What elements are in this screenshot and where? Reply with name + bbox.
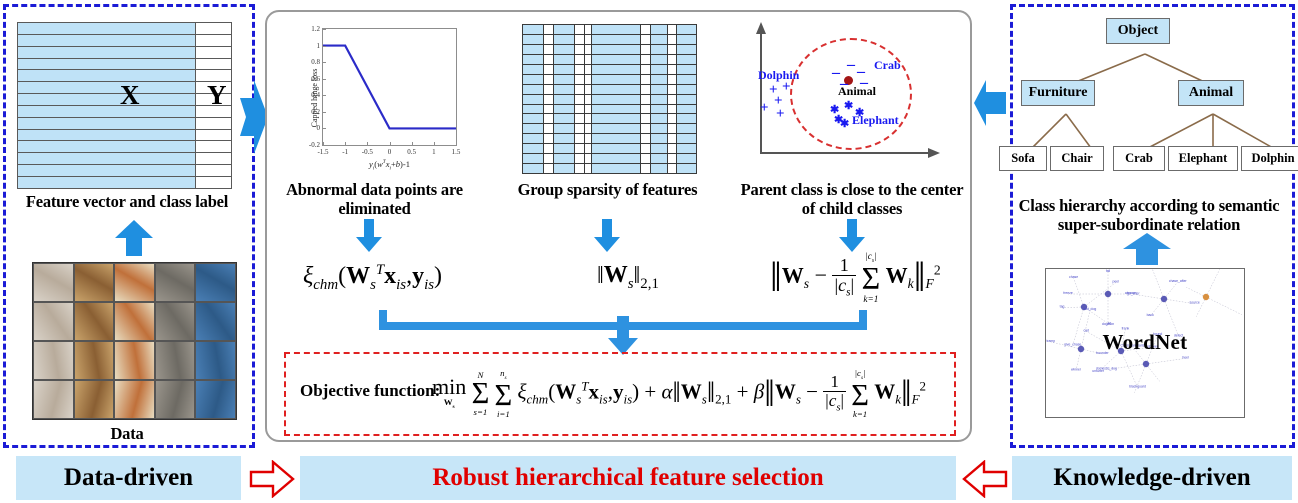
- tree-node-object[interactable]: Object: [1106, 18, 1170, 44]
- blue-down-arrow-icon-loss: [355, 219, 383, 253]
- chart-ytick: 0.8: [311, 58, 320, 66]
- matrix-y-cell: [195, 46, 231, 58]
- chart-ytick: 0: [317, 124, 321, 132]
- matrix-x-cell: [18, 117, 196, 129]
- matrix-x-cell: [18, 70, 196, 82]
- blue-left-arrow-icon: [972, 78, 1008, 128]
- tree-node-furniture[interactable]: Furniture: [1021, 80, 1095, 106]
- matrix-row: [18, 58, 232, 70]
- sparsity-column-active: [523, 25, 544, 173]
- svg-text:chase: chase: [1069, 275, 1078, 279]
- sparsity-column-active: [592, 25, 640, 173]
- chart-xtick: 0.5: [407, 148, 416, 156]
- group-sparsity-matrix: [522, 24, 697, 174]
- chart-xtick: -1: [342, 148, 348, 156]
- scatter-label-dolphin: Dolphin: [758, 68, 799, 83]
- matrix-x-cell: [18, 58, 196, 70]
- chart-ytick: 1: [317, 42, 321, 50]
- matrix-x-cell: [18, 82, 196, 94]
- feature-caption: Feature vector and class label: [2, 192, 252, 211]
- tree-node-sofa[interactable]: Sofa: [999, 146, 1047, 171]
- matrix-x-cell: [18, 153, 196, 165]
- blue-up-arrow-icon: [113, 218, 155, 258]
- matrix-y-cell: [195, 141, 231, 153]
- matrix-row: [18, 23, 232, 35]
- chart-ytick: 1.2: [311, 25, 320, 33]
- scatter-point-crab: –: [840, 75, 848, 93]
- data-image-thumb: [33, 380, 74, 419]
- chart-ytick-mark: [323, 79, 326, 80]
- data-image-thumb: [155, 380, 196, 419]
- svg-text:fail: fail: [1106, 269, 1111, 273]
- svg-text:tag: tag: [1060, 305, 1065, 309]
- matrix-row: [18, 34, 232, 46]
- chart-ytick-mark: [323, 29, 326, 30]
- chart-ytick-mark: [323, 95, 326, 96]
- scatter-point-elephant: ✱: [855, 106, 864, 119]
- chart-ytick-mark: [323, 145, 326, 146]
- blue-bracket-connector: [290, 308, 890, 356]
- chart-xtick-mark: [412, 142, 413, 145]
- blue-up-arrow-icon-wordnet: [1122, 232, 1172, 266]
- tree-node-elephant[interactable]: Elephant: [1168, 146, 1238, 171]
- sparsity-caption: Group sparsity of features: [500, 180, 715, 199]
- chart-xtick: 1.5: [452, 148, 461, 156]
- svg-text:hot_dog: hot_dog: [1084, 307, 1096, 311]
- scatter-point-dolphin: +: [760, 100, 769, 117]
- sparsity-column-active: [677, 25, 696, 173]
- formula-hier-term: ‖Ws − 1|cs| |cs|Σk=1 Wk‖F2: [770, 252, 941, 303]
- hierarchy-caption: Class hierarchy according to semantic su…: [1000, 196, 1298, 234]
- chart-plot-area: -0.200.20.40.60.811.2-1.5-1-0.500.511.5: [322, 28, 457, 146]
- scatter-point-dolphin: +: [776, 106, 785, 123]
- chart-xtick: -1.5: [317, 148, 328, 156]
- matrix-row: [18, 141, 232, 153]
- chart-ytick: 0.2: [311, 108, 320, 116]
- data-image-thumb: [195, 380, 236, 419]
- chart-xtick-mark: [434, 142, 435, 145]
- svg-text:lid: lid: [1108, 322, 1112, 326]
- scatter-point-crab: –: [860, 74, 868, 92]
- class-center-scatter: Animal Dolphin Crab Elephant +++++–––––✱…: [752, 20, 952, 175]
- data-image-thumb: [33, 263, 74, 302]
- chart-ytick: 0.4: [311, 91, 320, 99]
- chart-xtick: 0: [388, 148, 392, 156]
- blue-down-arrow-icon-hier: [838, 219, 866, 253]
- matrix-x-cell: [18, 129, 196, 141]
- formula-sparsity-term: ‖Ws‖2,1: [597, 262, 659, 293]
- chart-ytick: 0.6: [311, 75, 320, 83]
- data-image-thumb: [74, 302, 115, 341]
- tree-node-dolphin[interactable]: Dolphin: [1241, 146, 1298, 171]
- objective-formula: minWs NΣs=1 nsΣi=1 ξchm(WsTxis,yis) + α‖…: [432, 369, 926, 418]
- matrix-x-cell: [18, 23, 196, 35]
- scatter-label-crab: Crab: [874, 58, 901, 73]
- data-image-thumb: [114, 380, 155, 419]
- data-image-thumb: [195, 341, 236, 380]
- data-image-thumb: [195, 263, 236, 302]
- red-hollow-right-arrow-icon: [249, 460, 295, 498]
- svg-text:blackguard: blackguard: [1129, 384, 1146, 388]
- matrix-y-cell: [195, 129, 231, 141]
- chart-xtick-mark: [456, 142, 457, 145]
- objective-label: Objective function:: [300, 381, 440, 401]
- chart-ytick-mark: [323, 112, 326, 113]
- sparsity-column-zero: [544, 25, 554, 173]
- sparsity-column-zero: [575, 25, 585, 173]
- matrix-row: [18, 129, 232, 141]
- svg-text:go_after: go_after: [1127, 291, 1140, 295]
- scatter-point-elephant: ✱: [840, 117, 849, 130]
- data-image-thumb: [33, 341, 74, 380]
- matrix-y-cell: [195, 34, 231, 46]
- sparsity-column-active: [554, 25, 575, 173]
- scatter-point-dolphin: +: [782, 79, 791, 96]
- matrix-y-label: Y: [207, 80, 227, 111]
- chart-xtick-mark: [323, 142, 324, 145]
- scatter-point-crab: –: [832, 64, 840, 82]
- tree-edges: [1010, 18, 1295, 198]
- matrix-x-label: X: [120, 80, 140, 111]
- tree-node-crab[interactable]: Crab: [1113, 146, 1165, 171]
- data-image-thumb: [74, 380, 115, 419]
- matrix-x-cell: [18, 165, 196, 177]
- matrix-y-cell: [195, 153, 231, 165]
- blue-down-arrow-icon-sparsity: [593, 219, 621, 253]
- matrix-row: [18, 153, 232, 165]
- matrix-x-cell: [18, 46, 196, 58]
- matrix-y-cell: [195, 23, 231, 35]
- svg-text:winner: winner: [1071, 367, 1082, 371]
- chart-ytick-mark: [323, 46, 326, 47]
- matrix-row: [18, 46, 232, 58]
- sparsity-column-active: [651, 25, 668, 173]
- matrix-x-cell: [18, 105, 196, 117]
- data-image-thumb: [155, 341, 196, 380]
- data-image-thumb: [195, 302, 236, 341]
- matrix-y-cell: [195, 58, 231, 70]
- svg-text:heel: heel: [1182, 355, 1189, 359]
- data-caption: Data: [2, 424, 252, 443]
- sparsity-column-zero: [668, 25, 677, 173]
- matrix-y-cell: [195, 165, 231, 177]
- chart-xtick: 1: [432, 148, 436, 156]
- chart-line: [323, 29, 456, 145]
- banner-method: Robust hierarchical feature selection: [300, 456, 956, 500]
- chart-xlabel: yi(wTxi+b)-1: [322, 159, 457, 172]
- banner-knowledge-driven: Knowledge-driven: [1012, 456, 1292, 500]
- data-image-thumb: [114, 263, 155, 302]
- abnormal-caption: Abnormal data points are eliminated: [277, 180, 472, 218]
- svg-text:freeze: freeze: [1063, 291, 1073, 295]
- matrix-x-cell: [18, 176, 196, 188]
- matrix-row: [18, 165, 232, 177]
- chart-xtick-mark: [367, 142, 368, 145]
- data-image-thumb: [155, 263, 196, 302]
- formula-loss-term: ξchm(WsTxis,yis): [303, 262, 442, 294]
- sparsity-column-zero: [641, 25, 651, 173]
- chart-ytick-mark: [323, 128, 326, 129]
- parent-caption: Parent class is close to the center of c…: [740, 180, 964, 218]
- chart-ytick-mark: [323, 62, 326, 63]
- svg-text:chase_after: chase_after: [1169, 279, 1188, 283]
- capped-hinge-loss-chart: Capped hinge loss -0.200.20.40.60.811.2-…: [286, 22, 461, 174]
- wordnet-title: WordNet: [1045, 330, 1245, 355]
- red-hollow-left-arrow-icon: [962, 460, 1008, 498]
- data-image-thumb: [114, 341, 155, 380]
- data-image-thumb: [74, 341, 115, 380]
- svg-text:peel: peel: [1112, 280, 1119, 284]
- data-image-thumb: [114, 302, 155, 341]
- data-image-grid: [32, 262, 237, 420]
- svg-text:source: source: [1190, 301, 1200, 305]
- matrix-y-cell: [195, 176, 231, 188]
- data-image-thumb: [33, 302, 74, 341]
- matrix-x-cell: [18, 94, 196, 106]
- data-image-thumb: [74, 263, 115, 302]
- sparsity-column-zero: [585, 25, 592, 173]
- chart-xtick-mark: [345, 142, 346, 145]
- matrix-x-cell: [18, 34, 196, 46]
- svg-text:back: back: [1147, 313, 1154, 317]
- svg-text:domestic_dog: domestic_dog: [1096, 367, 1117, 371]
- banner-data-driven: Data-driven: [16, 456, 241, 500]
- chart-xtick: -0.5: [362, 148, 373, 156]
- tree-node-animal[interactable]: Animal: [1178, 80, 1244, 106]
- data-image-thumb: [155, 302, 196, 341]
- matrix-y-cell: [195, 117, 231, 129]
- scatter-point-elephant: ✱: [844, 99, 853, 112]
- scatter-point-crab: –: [847, 56, 855, 74]
- matrix-row: [18, 176, 232, 188]
- matrix-row: [18, 117, 232, 129]
- tree-node-chair[interactable]: Chair: [1050, 146, 1104, 171]
- matrix-x-cell: [18, 141, 196, 153]
- chart-xtick-mark: [390, 142, 391, 145]
